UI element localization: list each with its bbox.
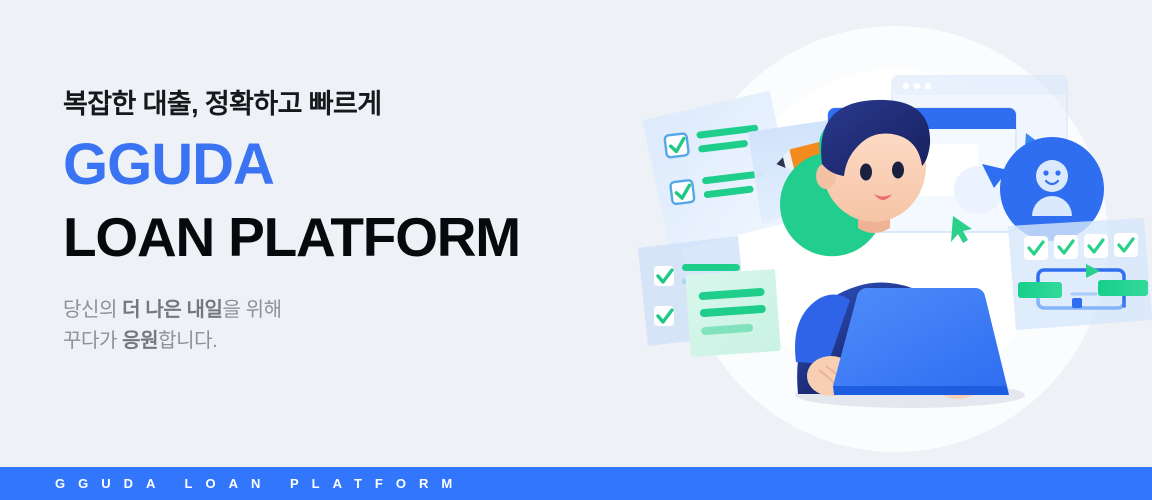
- hero-subtext: 당신의 더 나은 내일을 위해 꾸다가 응원합니다.: [63, 295, 623, 357]
- marquee-text: GGUDA LOAN PLATFORM: [55, 467, 465, 500]
- hero-platform: LOAN PLATFORM: [63, 210, 623, 265]
- sub-line2-strong: 응원: [122, 330, 158, 352]
- sub-line1-post: 을 위해: [223, 299, 282, 321]
- hero-kicker: 복잡한 대출, 정확하고 빠르게: [63, 88, 623, 122]
- laptop: [833, 288, 1009, 395]
- sub-line1-pre: 당신의: [63, 299, 122, 321]
- note-card-green: [685, 269, 781, 357]
- hero-illustration: [620, 0, 1152, 464]
- hero-banner: 복잡한 대출, 정확하고 빠르게 GGUDA LOAN PLATFORM 당신의…: [0, 0, 1152, 500]
- hero-copy: 복잡한 대출, 정확하고 빠르게 GGUDA LOAN PLATFORM 당신의…: [63, 88, 623, 357]
- marquee-bar: GGUDA LOAN PLATFORM: [0, 467, 1152, 500]
- sub-line1-strong: 더 나은 내일: [122, 299, 222, 321]
- flowchart-card-right: [1008, 218, 1152, 330]
- hero-brand: GGUDA: [63, 136, 623, 194]
- sub-line2-post: 합니다.: [158, 330, 217, 352]
- sub-line2-pre: 꾸다가: [63, 330, 122, 352]
